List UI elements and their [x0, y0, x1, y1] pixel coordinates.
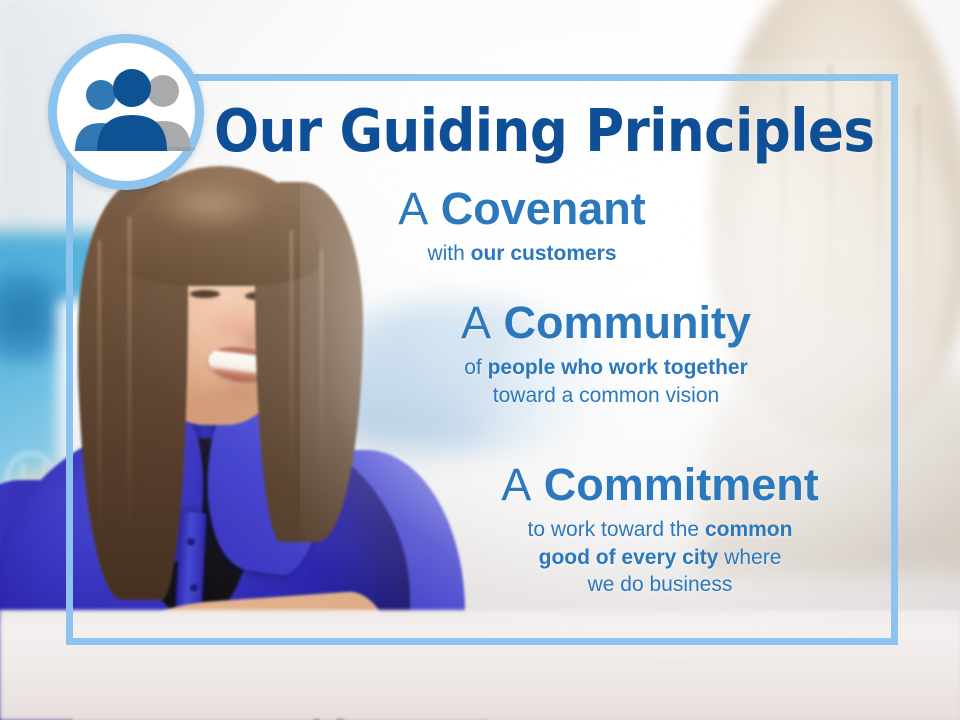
- text-segment: of: [464, 356, 487, 379]
- text-segment: we do business: [588, 573, 733, 596]
- principle-line: we do business: [436, 571, 884, 599]
- principle-covenant-keyword: Covenant: [441, 183, 646, 234]
- text-segment: to work toward the: [528, 518, 705, 541]
- employee-eye: [190, 290, 220, 298]
- text-segment-bold: common: [705, 518, 793, 541]
- principle-line: with our customers: [332, 240, 712, 268]
- people-icon-badge: [48, 34, 204, 190]
- text-segment: toward a common vision: [493, 384, 719, 407]
- principle-community-description: of people who work together toward a com…: [380, 354, 832, 409]
- principle-commitment-lead: A: [501, 459, 531, 510]
- principle-community-heading: A Community: [380, 300, 832, 347]
- text-segment-bold: our customers: [471, 242, 617, 265]
- principle-line: toward a common vision: [380, 382, 832, 410]
- principle-line: good of every city where: [436, 544, 884, 572]
- principle-community-keyword: Community: [504, 297, 752, 348]
- principle-commitment-keyword: Commitment: [544, 459, 819, 510]
- principle-covenant-description: with our customers: [332, 240, 712, 268]
- employee-hair-strand: [320, 250, 323, 460]
- text-segment-bold: people who work together: [488, 356, 748, 379]
- principle-commitment-description: to work toward the common good of every …: [436, 516, 884, 599]
- text-segment: with: [427, 242, 470, 265]
- employee-hair-strand: [128, 216, 131, 546]
- principle-community-lead: A: [461, 297, 491, 348]
- text-segment: where: [718, 546, 781, 569]
- white-table: [0, 610, 960, 720]
- page-title: Our Guiding Principles: [214, 96, 808, 165]
- text-segment-bold: good of every city: [539, 546, 719, 569]
- polo-button: [190, 584, 198, 592]
- principle-community: A Community of people who work together …: [380, 300, 832, 409]
- principle-line: to work toward the common: [436, 516, 884, 544]
- promo-graphic: FLOW FLOW: [0, 0, 960, 720]
- people-group-icon: [73, 69, 195, 151]
- polo-button: [187, 538, 195, 546]
- principle-line: of people who work together: [380, 354, 832, 382]
- principle-commitment-heading: A Commitment: [436, 462, 884, 509]
- principle-covenant-heading: A Covenant: [332, 186, 712, 233]
- principle-covenant: A Covenant with our customers: [332, 186, 712, 268]
- employee-hair-strand: [98, 240, 101, 540]
- employee-hair-sheen: [150, 178, 270, 232]
- employee-hair-strand: [290, 230, 293, 480]
- principle-covenant-lead: A: [398, 183, 428, 234]
- principle-commitment: A Commitment to work toward the common g…: [436, 462, 884, 599]
